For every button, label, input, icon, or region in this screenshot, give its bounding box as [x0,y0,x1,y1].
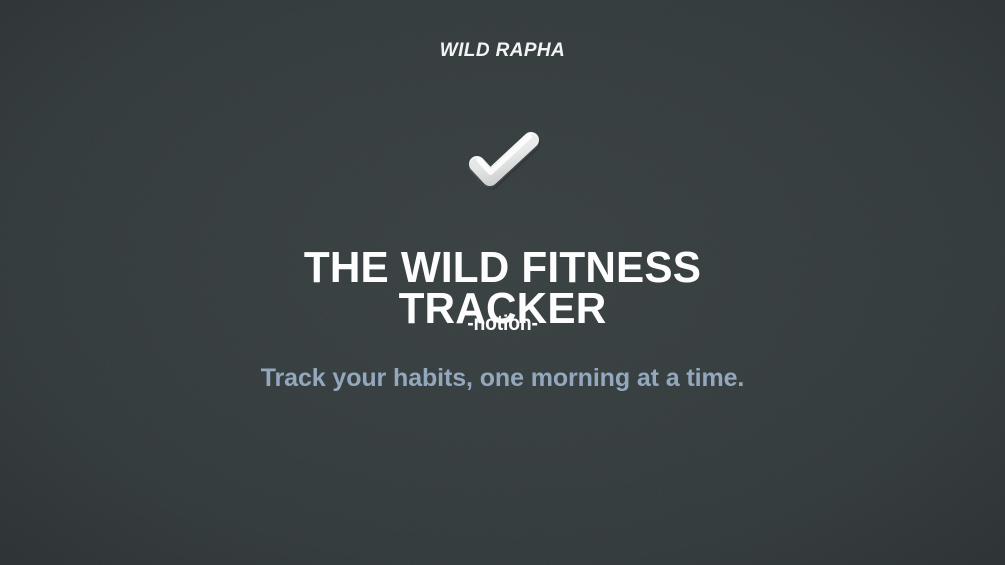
checkmark-icon [463,131,543,195]
page-title-line-1: THE WILD FITNESS [20,247,985,288]
brand-eyebrow: WILD RAPHA [0,38,1005,64]
title-slide: WILD RAPHA [0,0,1005,565]
platform-label: -notion- [40,312,965,336]
tagline: Track your habits, one morning at a time… [0,363,1005,393]
logo-area [0,131,1005,195]
